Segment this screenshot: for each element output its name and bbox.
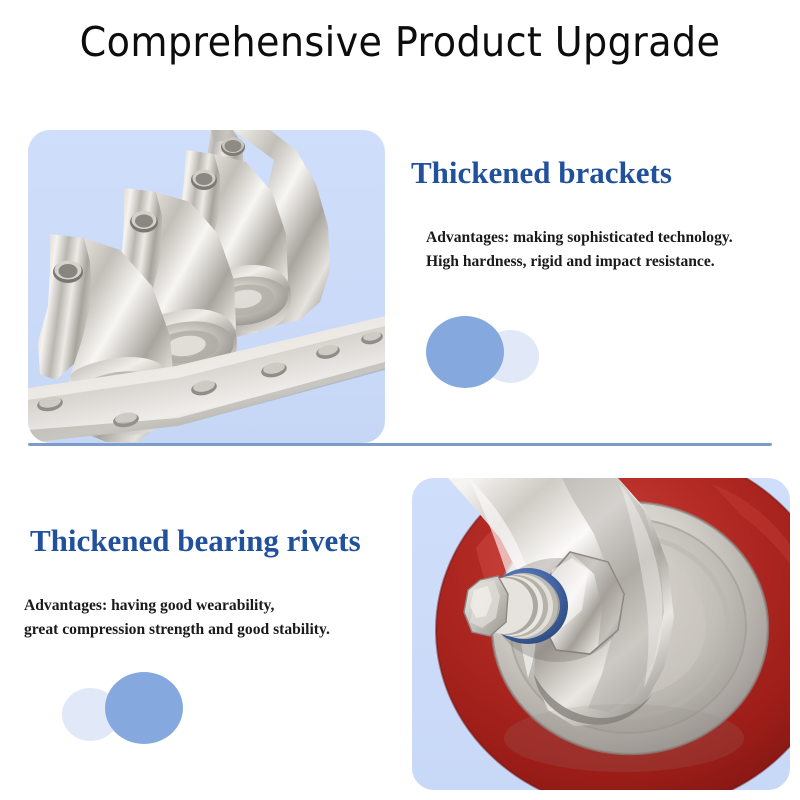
body-line: Advantages: making sophisticated technol… bbox=[426, 226, 733, 250]
section-body-brackets: Advantages: making sophisticated technol… bbox=[426, 226, 733, 273]
rivets-photo-artwork bbox=[412, 478, 790, 790]
decorative-circle-solid bbox=[105, 672, 183, 744]
body-line: great compression strength and good stab… bbox=[24, 618, 330, 642]
section-heading-rivets: Thickened bearing rivets bbox=[30, 524, 361, 558]
section-heading-brackets: Thickened brackets bbox=[411, 156, 672, 190]
section-body-rivets: Advantages: having good wearability, gre… bbox=[24, 594, 330, 641]
section-divider bbox=[28, 443, 772, 446]
decorative-dots-brackets bbox=[426, 312, 606, 392]
stainless-steel-caster-brackets-photo bbox=[28, 130, 385, 443]
page-title: Comprehensive Product Upgrade bbox=[28, 18, 772, 67]
decorative-dots-rivets bbox=[62, 668, 242, 748]
brackets-photo-artwork bbox=[28, 130, 385, 443]
decorative-circle-solid bbox=[426, 316, 504, 388]
body-line: Advantages: having good wearability, bbox=[24, 594, 330, 618]
red-polyurethane-wheel-rivet-photo bbox=[412, 478, 790, 790]
body-line: High hardness, rigid and impact resistan… bbox=[426, 250, 733, 274]
